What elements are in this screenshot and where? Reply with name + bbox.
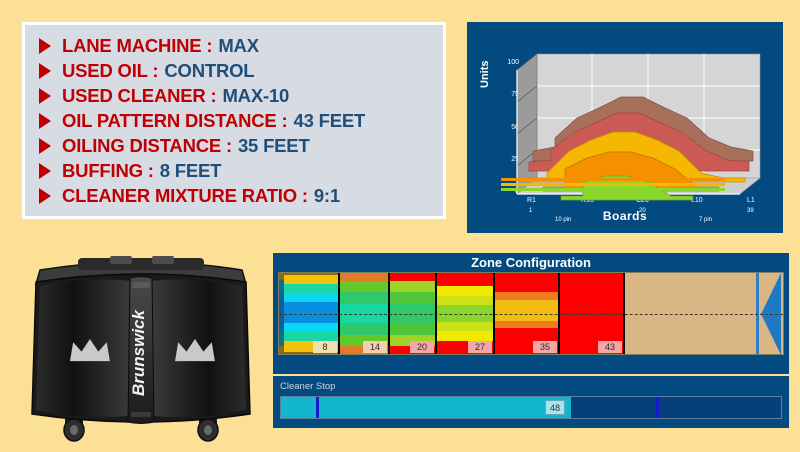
- zone-color-band: [390, 273, 435, 281]
- info-value: 35 FEET: [238, 135, 310, 157]
- cleaner-stop-value: 48: [545, 400, 565, 415]
- zone-color-band: [390, 292, 435, 303]
- zone-left-edge: [279, 273, 284, 354]
- brand-text: Brunswick: [129, 308, 148, 396]
- zone-number: 43: [598, 341, 622, 353]
- zone-color-band: [437, 273, 493, 286]
- zone-color-band: [279, 302, 338, 313]
- zone-color-band: [279, 323, 338, 332]
- info-value: 9:1: [314, 185, 340, 207]
- info-label: LANE MACHINE :: [62, 35, 212, 57]
- zone-number: 27: [468, 341, 492, 353]
- cleaner-stop-panel: Cleaner Stop 48: [273, 376, 789, 428]
- zone-color-band: [279, 313, 338, 324]
- zone-number: 35: [533, 341, 557, 353]
- zone-color-band: [437, 322, 493, 331]
- left-triangle-marker-icon: [761, 273, 781, 355]
- zone-color-band: [437, 331, 493, 341]
- zone-tail-area[interactable]: [625, 273, 783, 354]
- info-value: CONTROL: [164, 60, 254, 82]
- zone-color-band: [495, 321, 558, 328]
- cleaner-stop-label: Cleaner Stop: [280, 381, 782, 392]
- zone-color-band: [390, 313, 435, 323]
- info-row: USED CLEANER : MAX-10: [39, 83, 437, 108]
- info-value: MAX: [218, 35, 259, 57]
- zone-segment[interactable]: 8: [279, 273, 340, 354]
- zone-number: 8: [313, 341, 337, 353]
- zone-color-band: [340, 281, 388, 292]
- cleaner-stop-slider[interactable]: 48: [280, 396, 782, 419]
- info-row: BUFFING : 8 FEET: [39, 158, 437, 183]
- zone-color-band: [340, 292, 388, 303]
- zone-number: 14: [363, 341, 387, 353]
- info-row: CLEANER MIXTURE RATIO : 9:1: [39, 183, 437, 208]
- zone-configuration-panel: Zone Configuration 8 14 20 27 35 43: [273, 253, 789, 374]
- bullet-triangle-icon: [39, 163, 51, 179]
- zone-color-band: [340, 273, 388, 281]
- bullet-triangle-icon: [39, 63, 51, 79]
- info-value: 43 FEET: [293, 110, 365, 132]
- zone-number: 20: [410, 341, 434, 353]
- zone-color-band: [340, 313, 388, 323]
- info-label: CLEANER MIXTURE RATIO :: [62, 185, 308, 207]
- bullet-triangle-icon: [39, 188, 51, 204]
- zone-segment[interactable]: 27: [437, 273, 495, 354]
- bullet-triangle-icon: [39, 88, 51, 104]
- zone-color-band: [437, 305, 493, 314]
- zone-color-band: [279, 284, 338, 293]
- info-label: OIL PATTERN DISTANCE :: [62, 110, 287, 132]
- lane-condition-info-panel: LANE MACHINE : MAX USED OIL : CONTROL US…: [22, 22, 446, 219]
- cleaner-stop-fill: [281, 397, 571, 418]
- zone-color-band: [279, 332, 338, 341]
- cleaner-stop-tick-start: [316, 397, 319, 418]
- info-label: BUFFING :: [62, 160, 154, 182]
- zone-color-band: [495, 300, 558, 311]
- zone-segment[interactable]: 35: [495, 273, 560, 354]
- zone-color-band: [495, 273, 558, 292]
- info-row: OIL PATTERN DISTANCE : 43 FEET: [39, 108, 437, 133]
- oil-pattern-chart-panel: Units Boards 100 75 50 25 0 R1 R10 C20 L…: [467, 22, 783, 233]
- info-label: OILING DISTANCE :: [62, 135, 232, 157]
- zone-tail-divider: [756, 273, 759, 354]
- bullet-triangle-icon: [39, 113, 51, 129]
- bullet-triangle-icon: [39, 138, 51, 154]
- lane-machine-photo: Brunswick: [18, 248, 264, 444]
- zone-strip[interactable]: 8 14 20 27 35 43: [278, 272, 784, 355]
- zone-color-band: [390, 323, 435, 334]
- chart-area: Units Boards 100 75 50 25 0 R1 R10 C20 L…: [475, 30, 775, 225]
- zone-color-band: [495, 310, 558, 321]
- zone-segment[interactable]: 20: [390, 273, 437, 354]
- cleaner-stop-tick-end: [656, 397, 659, 418]
- info-label: USED OIL :: [62, 60, 158, 82]
- info-row: LANE MACHINE : MAX: [39, 33, 437, 58]
- bullet-triangle-icon: [39, 38, 51, 54]
- zone-segment[interactable]: 14: [340, 273, 390, 354]
- info-row: USED OIL : CONTROL: [39, 58, 437, 83]
- zone-color-band: [340, 323, 388, 334]
- zone-color-band: [437, 286, 493, 296]
- zone-color-band: [437, 313, 493, 322]
- zone-color-band: [390, 304, 435, 314]
- info-row: OILING DISTANCE : 35 FEET: [39, 133, 437, 158]
- info-value: 8 FEET: [160, 160, 222, 182]
- chart-plot-svg: [475, 30, 775, 225]
- info-value: MAX-10: [222, 85, 289, 107]
- zone-color-band: [279, 275, 338, 284]
- zone-color-band: [437, 296, 493, 305]
- zone-configuration-title: Zone Configuration: [273, 253, 789, 272]
- zone-color-band: [495, 292, 558, 299]
- zone-color-band: [340, 304, 388, 314]
- info-label: USED CLEANER :: [62, 85, 216, 107]
- zone-color-band: [279, 293, 338, 302]
- zone-segment[interactable]: 43: [560, 273, 625, 354]
- zone-color-band: [390, 281, 435, 292]
